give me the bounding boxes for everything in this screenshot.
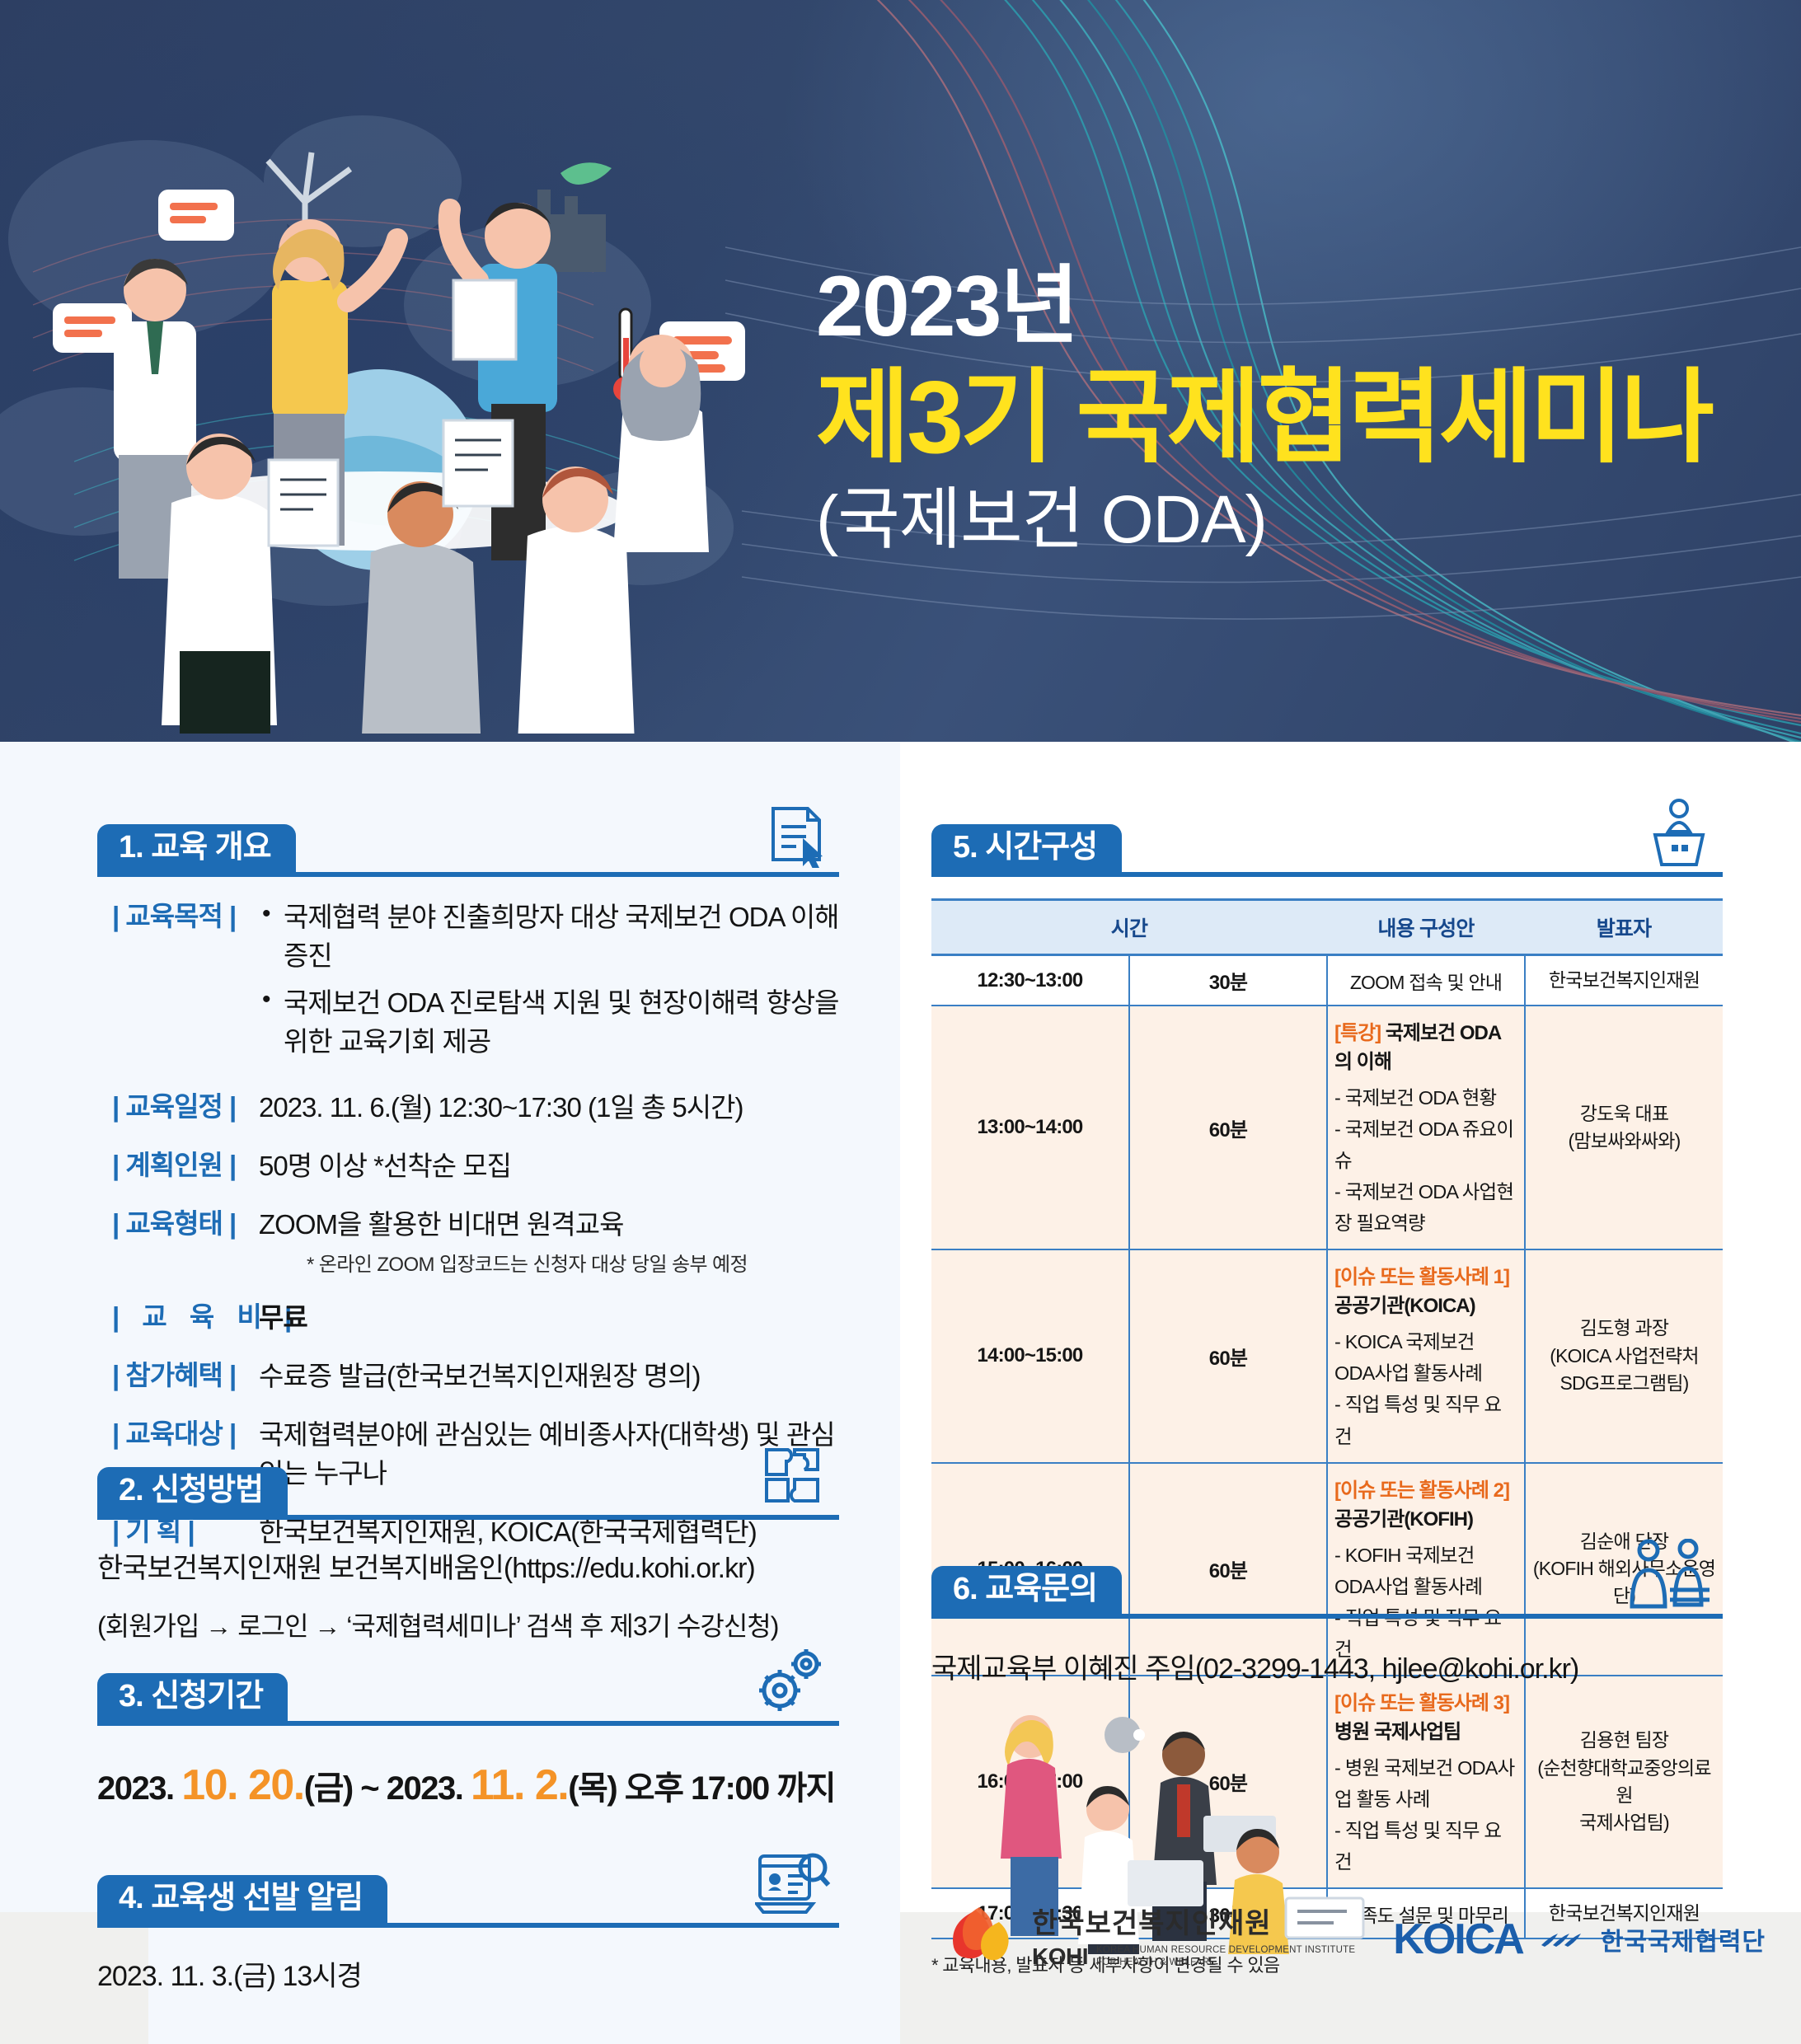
- overview-row-purpose: | 교육목적 | 국제협력 분야 진출희망자 대상 국제보건 ODA 이해 증진…: [97, 898, 839, 1069]
- hero-year: 2023년: [816, 264, 1739, 349]
- gears-icon: [752, 1643, 831, 1721]
- selection-notice-value: 2023. 11. 3.(금) 13시경: [97, 1956, 839, 1998]
- section-education-overview: 1. 교육 개요 | 교육목적 | 국제협력 분야 진출희망자 대상 국제보건 …: [97, 824, 839, 1571]
- cell-time: 14:00~15:00: [931, 1249, 1129, 1462]
- apply-url-line[interactable]: 한국보건복지인재원 보건복지배움인(https://edu.kohi.or.kr…: [97, 1548, 839, 1590]
- list-item: 국제보건 ODA 진로탐색 지원 및 현장이해력 향상을 위한 교육기회 제공: [259, 984, 839, 1062]
- koica-logo: KOICA 한국국제협력단: [1393, 1915, 1766, 1964]
- contact-value: 국제교육부 이혜진 주임(02-3299-1443, hjlee@kohi.or…: [931, 1648, 1723, 1690]
- puzzle-icon: [760, 1445, 831, 1515]
- cell-speaker: 한국보건복지인재원: [1525, 955, 1723, 1006]
- kohi-abbr: KOHI: [1032, 1943, 1088, 1970]
- period-part-1: 2023.: [97, 1770, 181, 1807]
- section-2-tag: 2. 신청방법: [97, 1467, 288, 1517]
- hero-banner: 2023년 제3기 국제협력세미나 (국제보건 ODA): [0, 0, 1801, 742]
- koica-name-kr: 한국국제협력단: [1601, 1921, 1766, 1957]
- bracket-tag: [이슈 또는 활동사례 1]: [1334, 1266, 1509, 1288]
- cell-speaker: 강도욱 대표 (맘보싸와싸와): [1525, 1006, 1723, 1249]
- row-value: 2023. 11. 6.(월) 12:30~17:30 (1일 총 5시간): [259, 1089, 839, 1127]
- profile-search-icon: [755, 1851, 831, 1923]
- cell-duration: 30분: [1129, 955, 1327, 1006]
- row-value: 무료: [259, 1299, 839, 1338]
- section-1-tag: 1. 교육 개요: [97, 824, 296, 874]
- cell-time: 13:00~14:00: [931, 1006, 1129, 1249]
- section-5-tag: 5. 시간구성: [931, 824, 1122, 874]
- speaker-org-2: SDG프로그램팀): [1532, 1370, 1716, 1397]
- row-label: | 교육목적 |: [97, 898, 259, 935]
- row-label: | 교 육 비 |: [97, 1299, 259, 1336]
- cell-content: [특강] 국제보건 ODA의 이해 - 국제보건 ODA 현황 - 국제보건 O…: [1327, 1006, 1525, 1249]
- koica-swoosh-icon: [1538, 1929, 1586, 1950]
- format-note: * 온라인 ZOOM 입장코드는 신청자 대상 당일 송부 예정: [259, 1251, 839, 1279]
- table-row: 12:30~13:00 30분 ZOOM 접속 및 안내 한국보건복지인재원: [931, 955, 1723, 1006]
- cell-speaker: 김도형 과장 (KOICA 사업전략처 SDG프로그램팀): [1525, 1249, 1723, 1462]
- bracket-tag: [특강]: [1334, 1022, 1381, 1044]
- purpose-bullets: 국제협력 분야 진출희망자 대상 국제보건 ODA 이해 증진 국제보건 ODA…: [259, 898, 839, 1069]
- list-item: - 국제보건 ODA 쥬요이슈: [1334, 1113, 1517, 1176]
- list-item: 국제협력 분야 진출희망자 대상 국제보건 ODA 이해 증진: [259, 898, 839, 976]
- cell-time: 12:30~13:00: [931, 955, 1129, 1006]
- content-heading: 공공기관(KOFIH): [1334, 1508, 1473, 1531]
- overview-row-schedule: | 교육일정 | 2023. 11. 6.(월) 12:30~17:30 (1일…: [97, 1089, 839, 1127]
- table-row: 14:00~15:00 60분 [이슈 또는 활동사례 1] 공공기관(KOIC…: [931, 1249, 1723, 1462]
- section-application-period: 3. 신청기간 2023. 10. 20.(금) ~ 2023. 11. 2.(…: [97, 1673, 839, 1810]
- two-people-icon: [1624, 1539, 1714, 1614]
- overview-row-benefit: | 참가혜택 | 수료증 발급(한국보건복지인재원장 명의): [97, 1357, 839, 1396]
- section-6-header: 6. 교육문의: [931, 1566, 1723, 1619]
- section-1-header: 1. 교육 개요: [97, 824, 839, 877]
- logo-bar: 한국보건복지인재원 KOHI KOREA HUMAN RESOURCE DEVE…: [948, 1904, 1766, 1975]
- kohi-name-en-1: KOREA HUMAN RESOURCE DEVELOPMENT INSTITU…: [1096, 1944, 1355, 1956]
- kohi-name-kr: 한국보건복지인재원: [1032, 1909, 1355, 1939]
- table-row: 13:00~14:00 60분 [특강] 국제보건 ODA의 이해 - 국제보건…: [931, 1006, 1723, 1249]
- overview-row-capacity: | 계획인원 | 50명 이상 *선착순 모집: [97, 1147, 839, 1186]
- section-3-header: 3. 신청기간: [97, 1673, 839, 1726]
- cell-content: ZOOM 접속 및 안내: [1327, 955, 1525, 1006]
- content-heading: 공공기관(KOICA): [1334, 1295, 1475, 1317]
- cell-duration: 60분: [1129, 1249, 1327, 1462]
- speaker-org: (맘보싸와싸와): [1532, 1127, 1716, 1155]
- section-6-tag: 6. 교육문의: [931, 1566, 1122, 1615]
- presenter-podium-icon: [1644, 799, 1714, 872]
- cell-content: [이슈 또는 활동사례 1] 공공기관(KOICA) - KOICA 국제보건 …: [1327, 1249, 1525, 1462]
- list-item: - 국제보건 ODA 현황: [1334, 1082, 1517, 1113]
- list-item: - KOICA 국제보건 ODA사업 활동사례: [1334, 1326, 1517, 1389]
- people-illustration: [33, 74, 808, 734]
- period-highlight-1: 10. 20.: [181, 1761, 304, 1809]
- list-item: - 국제보건 ODA 사업현장 필요역량: [1334, 1176, 1517, 1239]
- table-header-row: 시간 내용 구성안 발표자: [931, 900, 1723, 955]
- overview-row-format: | 교육형태 | ZOOM을 활용한 비대면 원격교육 * 온라인 ZOOM 입…: [97, 1206, 839, 1279]
- row-value: 수료증 발급(한국보건복지인재원장 명의): [259, 1357, 839, 1396]
- row-label: | 교육형태 |: [97, 1206, 259, 1243]
- kohi-mark-icon: [948, 1904, 1019, 1975]
- application-period-value: 2023. 10. 20.(금) ~ 2023. 11. 2.(목) 오후 17…: [97, 1760, 839, 1810]
- section-contact: 6. 교육문의 국제교육부 이혜진 주임(02-3299-1443, hjlee…: [931, 1566, 1723, 1958]
- koica-wordmark: KOICA: [1393, 1915, 1523, 1964]
- speaker-org: (KOICA 사업전략처: [1532, 1343, 1716, 1370]
- apply-steps-line: (회원가입 → 로그인 → ‘국제협력세미나’ 검색 후 제3기 수강신청): [97, 1606, 839, 1646]
- period-part-2: (금) ~ 2023.: [304, 1770, 471, 1807]
- row-label: | 교육대상 |: [97, 1416, 259, 1453]
- section-5-header: 5. 시간구성: [931, 824, 1723, 877]
- section-4-tag: 4. 교육생 선발 알림: [97, 1875, 387, 1924]
- hero-subtitle: (국제보건 ODA): [816, 483, 1739, 557]
- document-cursor-icon: [763, 805, 831, 872]
- hero-title: 제3기 국제협력세미나: [816, 364, 1739, 471]
- bracket-tag: [이슈 또는 활동사례 2]: [1334, 1479, 1509, 1502]
- section-2-header: 2. 신청방법: [97, 1467, 839, 1520]
- th-content: 내용 구성안: [1327, 900, 1525, 955]
- speaker-name: 김도형 과장: [1532, 1315, 1716, 1342]
- kohi-name-en-2: FOR HEALTH & WELFARE: [1096, 1957, 1355, 1968]
- speaker-name: 강도욱 대표: [1532, 1100, 1716, 1127]
- section-how-to-apply: 2. 신청방법 한국보건복지인재원 보건복지배움인(https://edu.ko…: [97, 1467, 839, 1646]
- section-selection-notice: 4. 교육생 선발 알림 2023. 11. 3.(금) 13시경: [97, 1875, 839, 1998]
- overview-list: | 교육목적 | 국제협력 분야 진출희망자 대상 국제보건 ODA 이해 증진…: [97, 898, 839, 1551]
- kohi-logo: 한국보건복지인재원 KOHI KOREA HUMAN RESOURCE DEVE…: [948, 1904, 1355, 1975]
- period-part-3: (목) 오후 17:00 까지: [568, 1770, 835, 1807]
- th-speaker: 발표자: [1525, 900, 1723, 955]
- th-time: 시간: [931, 900, 1327, 955]
- period-highlight-2: 11. 2.: [471, 1761, 568, 1809]
- section-4-header: 4. 교육생 선발 알림: [97, 1875, 839, 1928]
- section-3-tag: 3. 신청기간: [97, 1673, 288, 1723]
- row-label: | 참가혜택 |: [97, 1357, 259, 1395]
- row-value: 50명 이상 *선착순 모집: [259, 1147, 839, 1186]
- row-label: | 교육일정 |: [97, 1089, 259, 1126]
- cell-duration: 60분: [1129, 1006, 1327, 1249]
- row-label: | 계획인원 |: [97, 1147, 259, 1184]
- list-item: - 직업 특성 및 직무 요건: [1334, 1389, 1517, 1451]
- overview-row-fee: | 교 육 비 | 무료: [97, 1299, 839, 1338]
- row-value: ZOOM을 활용한 비대면 원격교육: [259, 1206, 839, 1245]
